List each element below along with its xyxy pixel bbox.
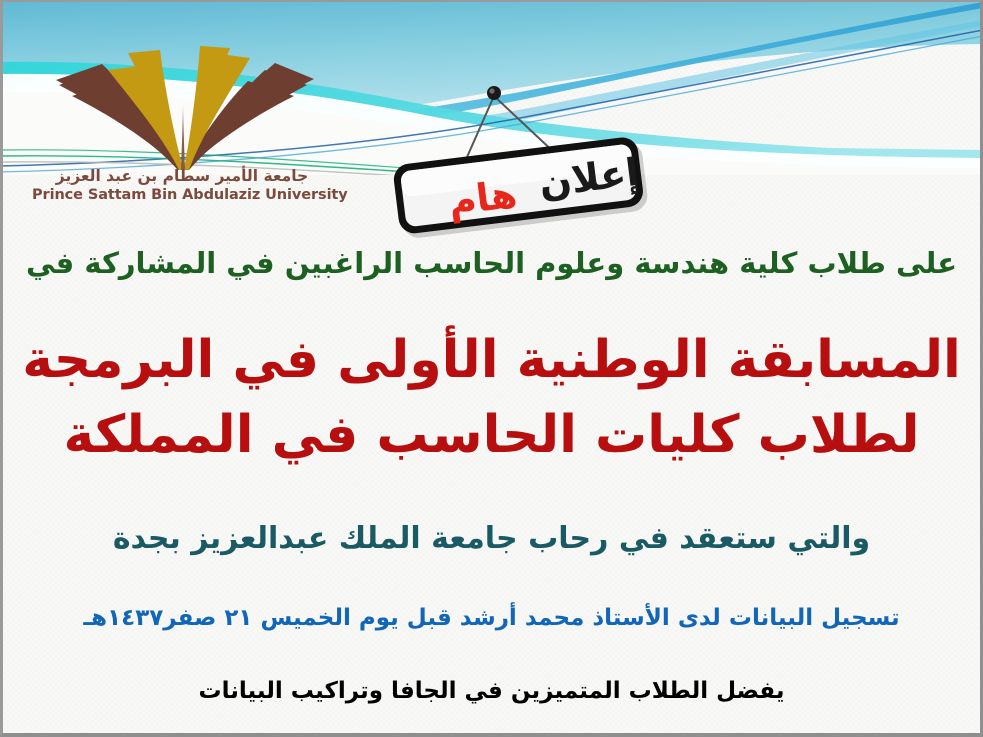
preference-note-text: يفضل الطلاب المتميزين في الجافا وتراكيب … [0, 678, 983, 704]
competition-title-line-2: لطلاب كليات الحاسب في المملكة [0, 405, 983, 465]
open-book-logo-icon [50, 22, 315, 170]
hanging-announcement-plaque: إعلان هام [372, 82, 672, 242]
registration-deadline-text: تسجيل البيانات لدى الأستاذ محمد أرشد قبل… [0, 605, 983, 631]
logo-text-arabic: جامعة الأمير سطام بن عبد العزيز [32, 168, 332, 186]
announcement-poster-slide: جامعة الأمير سطام بن عبد العزيز Prince S… [0, 0, 983, 737]
university-logo: جامعة الأمير سطام بن عبد العزيز Prince S… [32, 22, 332, 222]
venue-text: والتي ستعقد في رحاب جامعة الملك عبدالعزي… [0, 521, 983, 556]
competition-title-line-1: المسابقة الوطنية الأولى في البرمجة [0, 330, 983, 390]
announcement-sign-graphic: إعلان هام [372, 82, 672, 242]
logo-text-english: Prince Sattam Bin Abdulaziz University [32, 187, 332, 204]
intro-text: على طلاب كلية هندسة وعلوم الحاسب الراغبي… [0, 246, 983, 280]
